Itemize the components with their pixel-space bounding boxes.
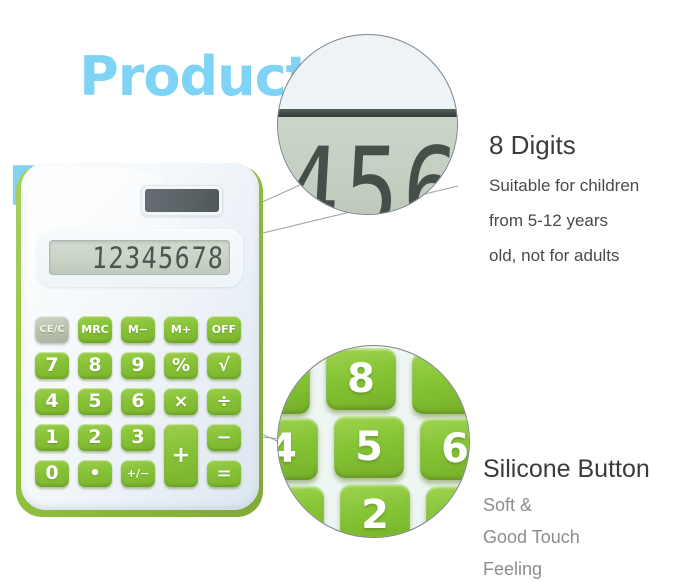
key-3[interactable]: 3 bbox=[121, 424, 155, 451]
feature-button-title: Silicone Button bbox=[483, 455, 650, 484]
key-multiply[interactable]: × bbox=[164, 388, 198, 415]
key-4[interactable]: 4 bbox=[35, 388, 69, 415]
feature-button-line-3: Feeling bbox=[483, 559, 650, 580]
lcd-display-value: 12345678 bbox=[91, 240, 225, 274]
key-memory-plus[interactable]: M+ bbox=[164, 316, 198, 343]
key-0[interactable]: 0 bbox=[35, 460, 69, 487]
feature-button-line-2: Good Touch bbox=[483, 527, 650, 548]
magnified-key-bottom-partial-right bbox=[426, 486, 470, 538]
key-sign-change[interactable]: +/− bbox=[121, 460, 155, 487]
key-ce-c[interactable]: CE/C bbox=[35, 316, 69, 343]
solar-panel bbox=[141, 185, 223, 216]
key-8[interactable]: 8 bbox=[78, 352, 112, 379]
feature-digits-text: 8 Digits Suitable for children from 5-12… bbox=[489, 130, 639, 266]
feature-button-line-1: Soft & bbox=[483, 495, 650, 516]
magnified-key-bottom-partial-left bbox=[277, 486, 324, 538]
key-decimal-point[interactable]: • bbox=[78, 460, 112, 487]
key-9[interactable]: 9 bbox=[121, 352, 155, 379]
key-1[interactable]: 1 bbox=[35, 424, 69, 451]
key-memory-minus[interactable]: M− bbox=[121, 316, 155, 343]
key-divide[interactable]: ÷ bbox=[207, 388, 241, 415]
magnified-key-top: 8 bbox=[326, 348, 396, 410]
key-minus[interactable]: − bbox=[207, 424, 241, 451]
key-equals[interactable]: = bbox=[207, 460, 241, 487]
lcd-housing: 12345678 bbox=[37, 229, 243, 287]
infographic-page: Product Front 12345678 CE/CMRCM−M+OFF789… bbox=[0, 0, 679, 582]
magnified-key-left: 4 bbox=[277, 418, 318, 480]
magnified-key-top-partial-left bbox=[277, 352, 310, 414]
key-plus[interactable]: + bbox=[164, 424, 198, 487]
lcd-screen: 12345678 bbox=[49, 240, 230, 275]
calculator-front-face: 12345678 CE/CMRCM−M+OFF789%√456×÷123+−0•… bbox=[21, 163, 259, 510]
key-percent[interactable]: % bbox=[164, 352, 198, 379]
magnified-key-top-partial-right bbox=[412, 352, 470, 414]
magnified-key-right: 6 bbox=[420, 418, 470, 480]
key-square-root[interactable]: √ bbox=[207, 352, 241, 379]
key-mrc[interactable]: MRC bbox=[78, 316, 112, 343]
calculator-keypad[interactable]: CE/CMRCM−M+OFF789%√456×÷123+−0•+/−= bbox=[35, 316, 247, 494]
magnified-digits: 456 bbox=[277, 123, 458, 215]
key-2[interactable]: 2 bbox=[78, 424, 112, 451]
callout-circle-buttons: 8 4 5 6 2 bbox=[277, 345, 470, 538]
key-5[interactable]: 5 bbox=[78, 388, 112, 415]
feature-digits-title: 8 Digits bbox=[489, 130, 639, 161]
page-title-line-1: Product bbox=[79, 45, 310, 108]
feature-digits-line-1: Suitable for children bbox=[489, 176, 639, 196]
magnified-key-center: 5 bbox=[334, 416, 404, 478]
magnified-key-bottom: 2 bbox=[340, 484, 410, 538]
calculator-product-image: 12345678 CE/CMRCM−M+OFF789%√456×÷123+−0•… bbox=[16, 163, 263, 519]
feature-digits-line-2: from 5-12 years bbox=[489, 211, 639, 231]
callout-circle-digits: 456 bbox=[277, 34, 458, 215]
solar-cell bbox=[145, 189, 219, 212]
key-7[interactable]: 7 bbox=[35, 352, 69, 379]
key-6[interactable]: 6 bbox=[121, 388, 155, 415]
feature-digits-line-3: old, not for adults bbox=[489, 246, 639, 266]
feature-button-text: Silicone Button Soft & Good Touch Feelin… bbox=[483, 455, 650, 580]
key-off[interactable]: OFF bbox=[207, 316, 241, 343]
